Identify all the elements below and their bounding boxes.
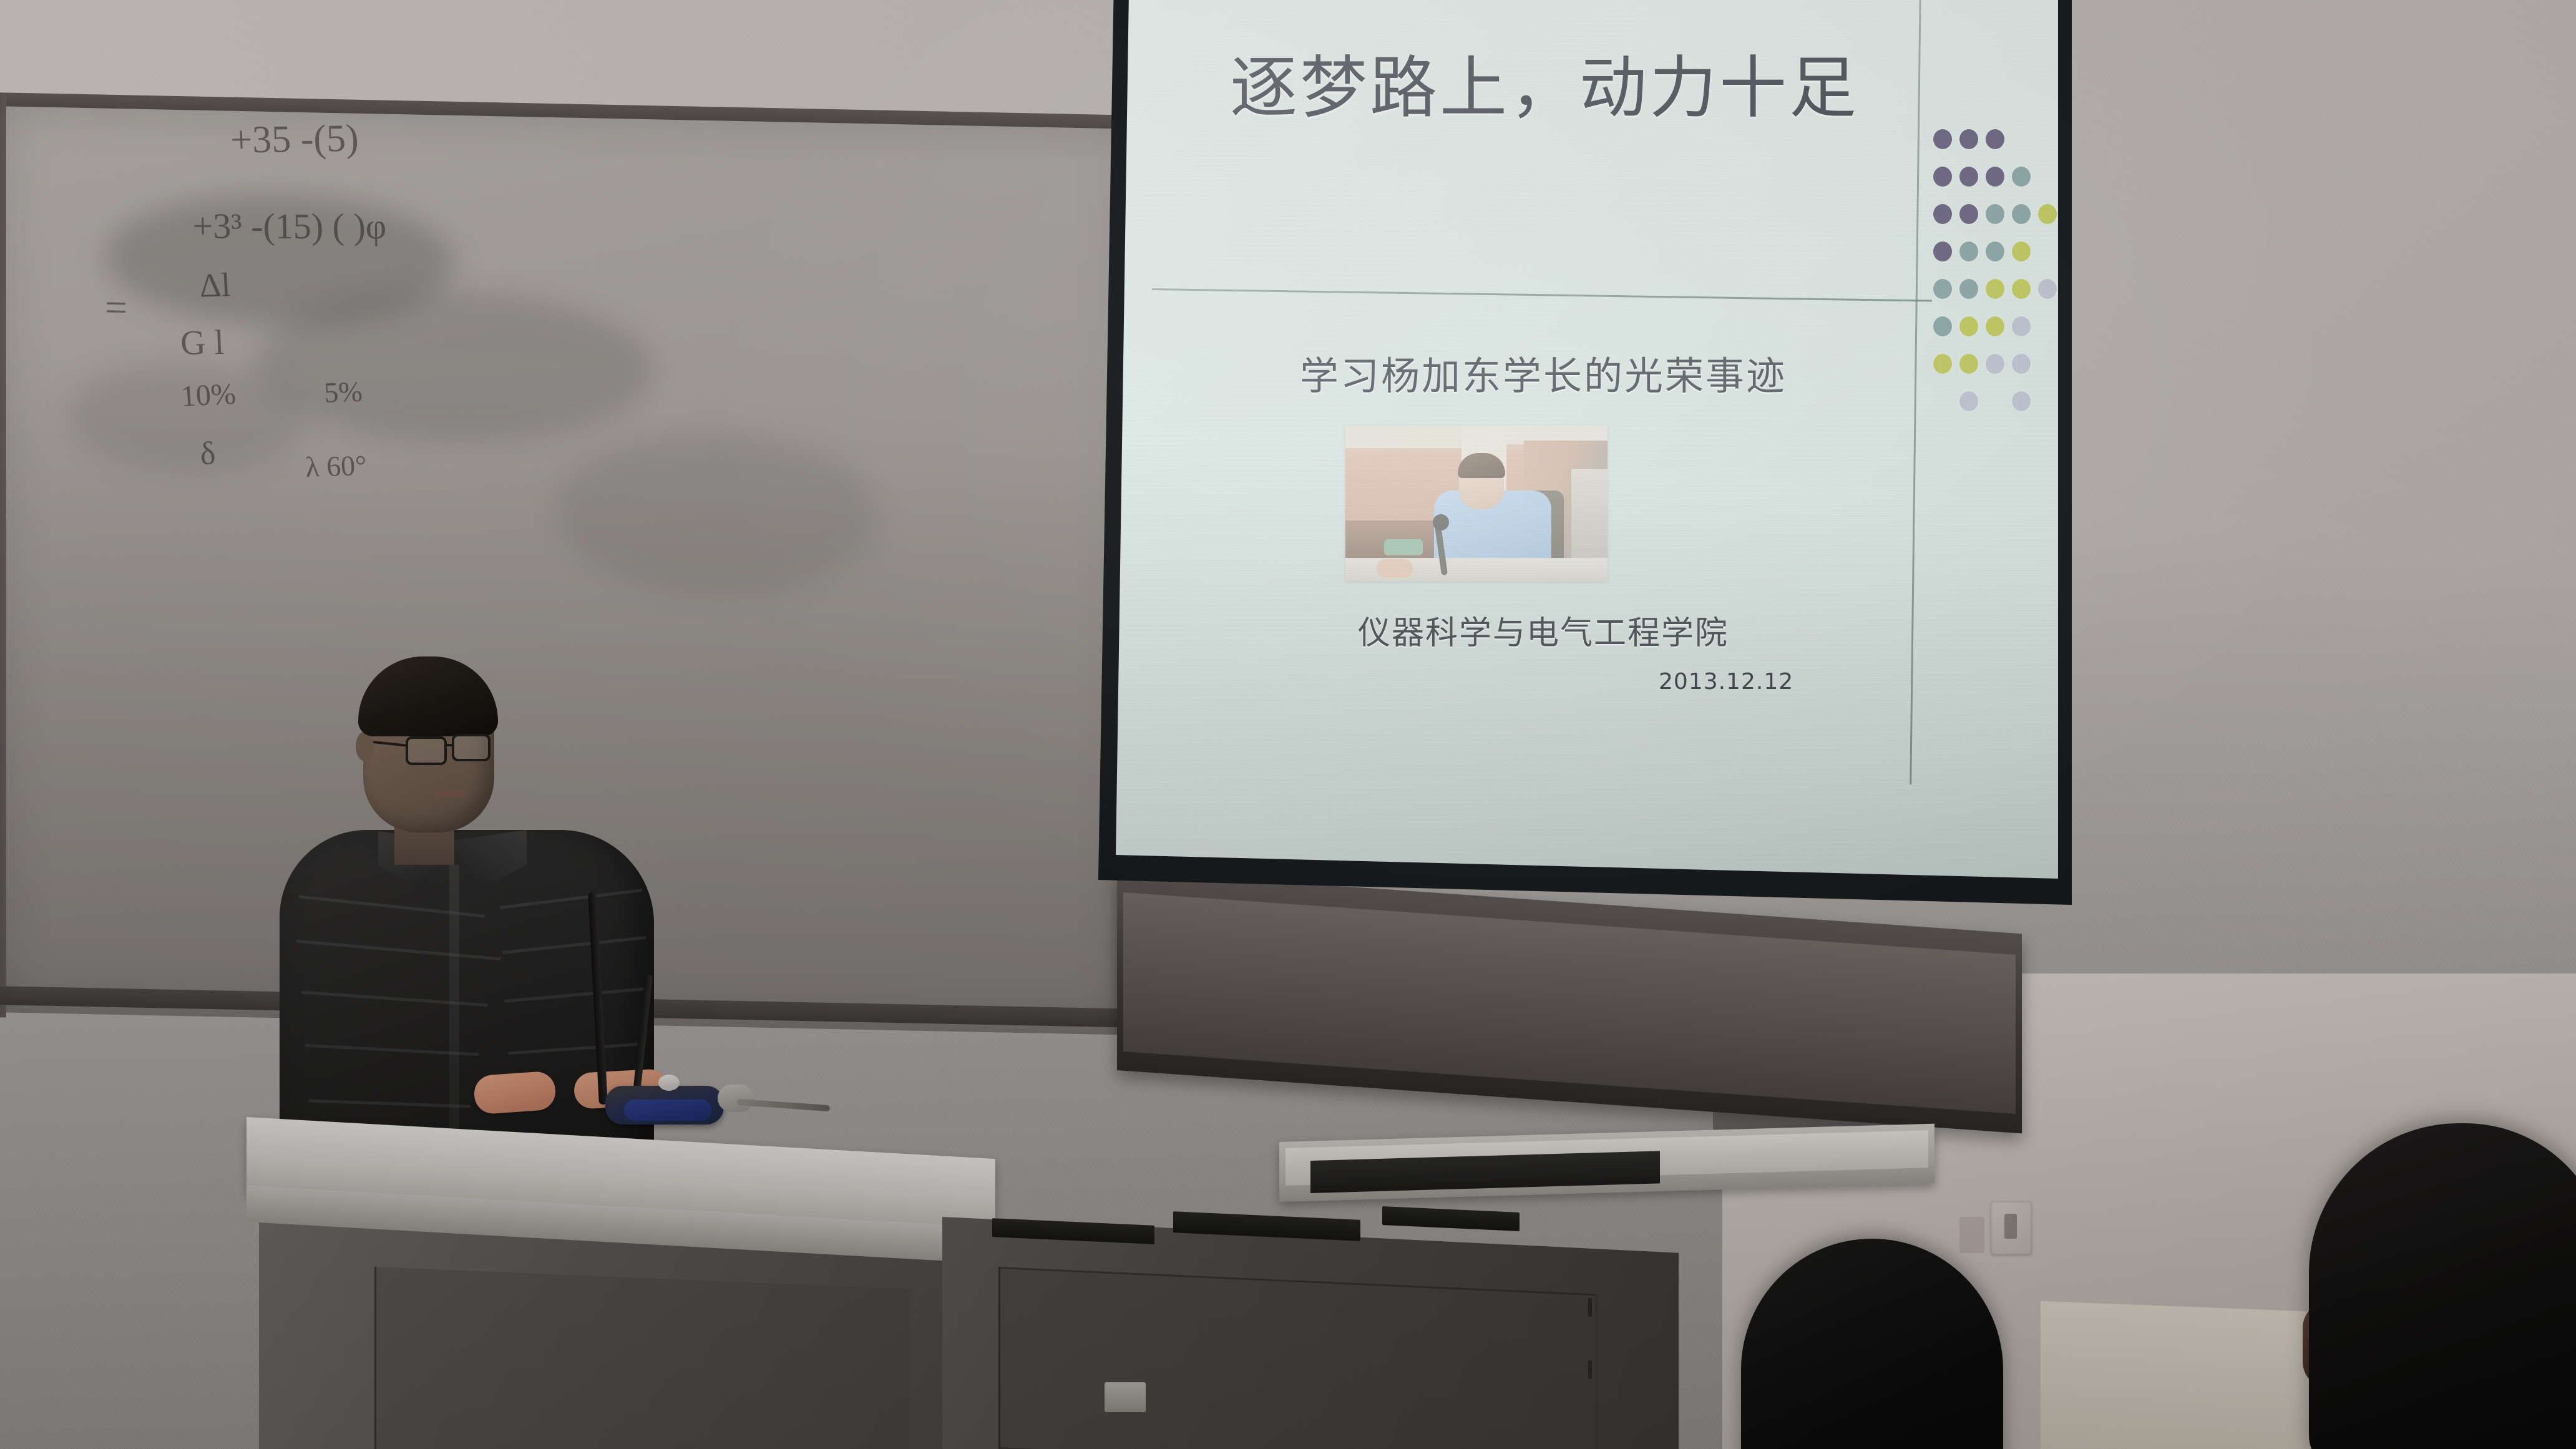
presenter-glasses-bridge xyxy=(446,744,454,746)
presenter-hand-left xyxy=(473,1071,557,1115)
av-cabinet-label xyxy=(1105,1382,1146,1412)
audience-head-right xyxy=(2309,1123,2576,1449)
presenter-glasses-left-lens xyxy=(406,736,447,765)
podium-front-panel xyxy=(374,1267,911,1449)
wall-outlet-secondary xyxy=(1959,1217,1984,1253)
whiteboard-equation: λ 60° xyxy=(305,449,368,484)
whiteboard-frame-left xyxy=(0,94,6,1017)
classroom-photo: +35 -(5)+3³ -(15) ( )φ=ΔlG l10%5%δλ 60° … xyxy=(0,0,2576,1449)
presenter-hair xyxy=(358,656,498,736)
microphone-knob xyxy=(718,1085,754,1112)
microphone-base-blue xyxy=(624,1100,711,1121)
presenter-mouth xyxy=(432,790,466,798)
wall-outlet xyxy=(1991,1201,2032,1255)
whiteboard-equation: +35 -(5) xyxy=(230,117,359,163)
presentation-slide: 逐梦路上，动力十足 学习杨加东学长的光荣事迹 xyxy=(1116,0,2058,894)
microphone-cap xyxy=(658,1075,680,1091)
slide-grain xyxy=(1116,0,2058,894)
projector-screen-surface: 逐梦路上，动力十足 学习杨加东学长的光荣事迹 xyxy=(1116,0,2058,894)
whiteboard-equation: = xyxy=(105,285,127,331)
av-cabinet-door xyxy=(998,1267,1598,1449)
presenter-glasses-right-lens xyxy=(452,734,490,761)
whiteboard-equation: G l xyxy=(180,323,225,363)
